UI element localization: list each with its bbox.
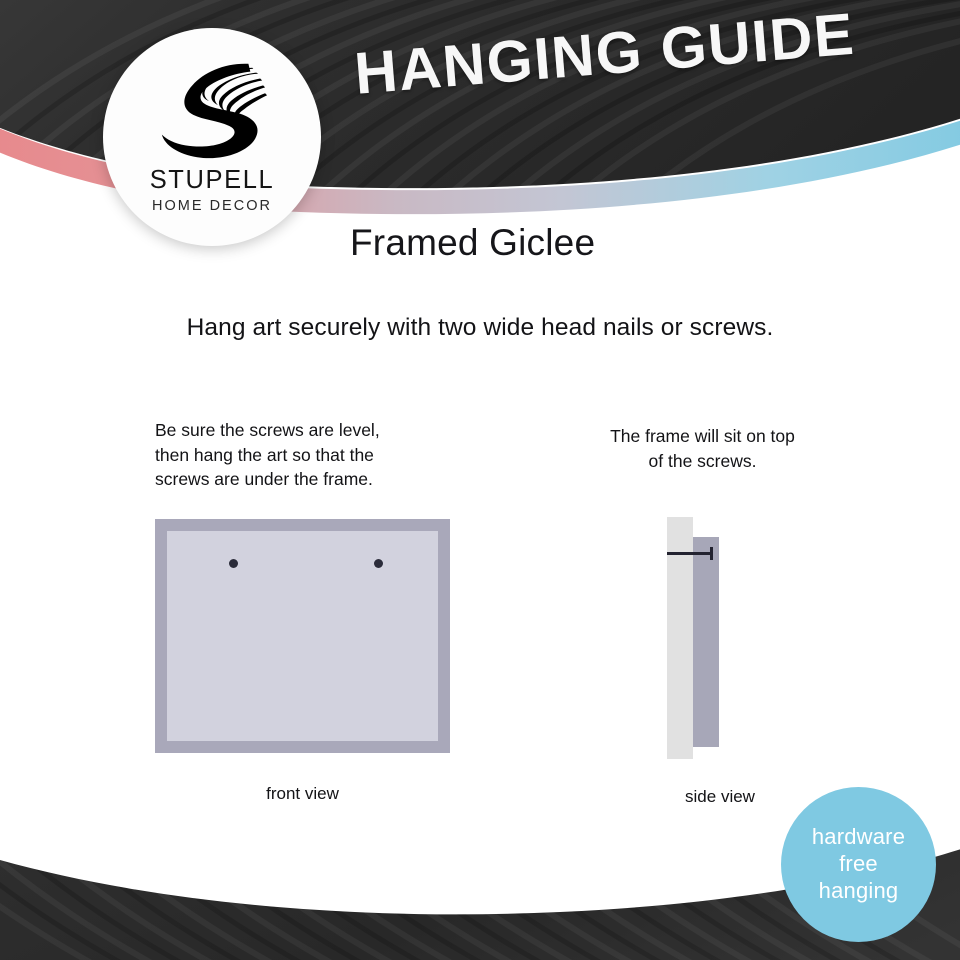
side-view-instructions-line-2: of the screws. <box>560 449 845 474</box>
page-title: HANGING GUIDE <box>352 0 857 108</box>
logo-tagline: HOME DECOR <box>152 199 272 214</box>
front-view-diagram <box>155 519 450 753</box>
front-view-instructions: Be sure the screws are level, then hang … <box>155 418 455 492</box>
side-view-diagram <box>660 515 780 763</box>
side-view-label: side view <box>640 787 800 807</box>
product-type-title: Framed Giclee <box>350 222 595 264</box>
lead-instruction: Hang art securely with two wide head nai… <box>0 314 960 342</box>
front-view-instructions-line-1: Be sure the screws are level, <box>155 418 455 443</box>
front-view-instructions-line-2: then hang the art so that the <box>155 443 455 468</box>
side-view-screw-shaft-icon <box>667 552 712 555</box>
hanging-guide-page: STUPELL HOME DECOR HANGING GUIDE Framed … <box>0 0 960 960</box>
side-view-instructions: The frame will sit on top of the screws. <box>560 424 845 473</box>
badge-line-1: hardware <box>812 824 905 851</box>
side-view-frame <box>693 537 719 747</box>
front-view-frame-interior <box>167 531 438 741</box>
side-view-screw-head-icon <box>710 547 713 560</box>
side-view-instructions-line-1: The frame will sit on top <box>560 424 845 449</box>
stupell-swoosh-icon <box>153 54 271 166</box>
hardware-free-hanging-badge: hardware free hanging <box>781 787 936 942</box>
logo-wordmark: STUPELL <box>150 168 275 194</box>
hardware-free-hanging-badge-text: hardware free hanging <box>812 824 905 904</box>
front-view-instructions-line-3: screws are under the frame. <box>155 467 455 492</box>
screw-dot-right-icon <box>374 559 383 568</box>
stupell-logo-badge: STUPELL HOME DECOR <box>103 28 321 246</box>
badge-line-3: hanging <box>812 878 905 905</box>
badge-line-2: free <box>812 851 905 878</box>
screw-dot-left-icon <box>229 559 238 568</box>
front-view-label: front view <box>155 784 450 804</box>
